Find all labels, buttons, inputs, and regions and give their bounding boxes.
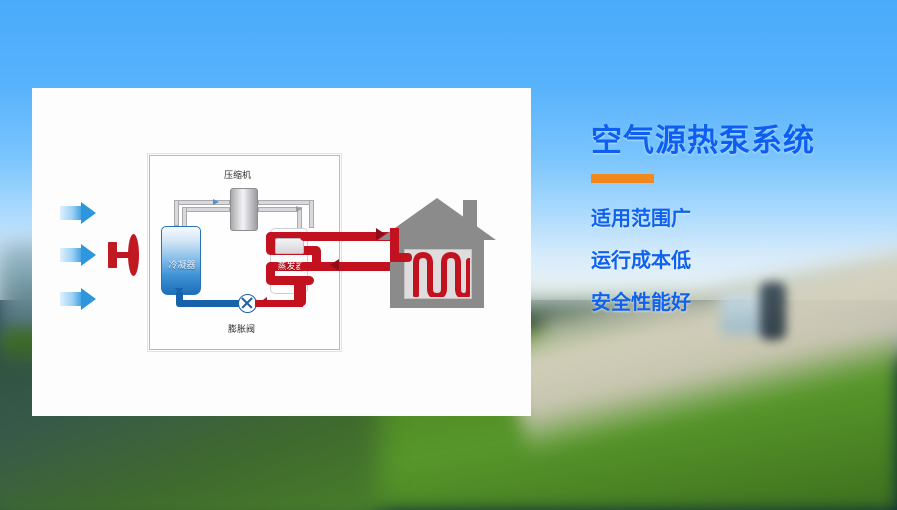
vapor-pipe-segment bbox=[174, 200, 179, 226]
list-item: 适用范围广 bbox=[591, 208, 891, 228]
slide-canvas: 压缩机 膨胀阀 冷凝器 bbox=[0, 0, 897, 510]
vapor-pipe-segment bbox=[174, 200, 230, 205]
hot-flow-arrow-icon bbox=[260, 297, 267, 307]
evaporator-plate bbox=[275, 238, 304, 254]
floor-coil-svg bbox=[406, 251, 470, 297]
evaporator-coil bbox=[266, 276, 314, 285]
compressor-unit bbox=[230, 188, 258, 231]
vapor-pipe-segment bbox=[258, 200, 314, 205]
hot-return-arrow-icon bbox=[330, 259, 339, 271]
bullet-list: 适用范围广 运行成本低 安全性能好 bbox=[591, 208, 891, 312]
list-item: 运行成本低 bbox=[591, 250, 891, 270]
flow-arrow-icon bbox=[213, 199, 219, 205]
accent-bar bbox=[591, 174, 654, 183]
airflow-group bbox=[60, 196, 150, 316]
coil-inlet-branch bbox=[390, 253, 412, 262]
airflow-arrow-icon bbox=[60, 288, 96, 310]
expansion-valve-label: 膨胀阀 bbox=[228, 326, 255, 335]
page-title: 空气源热泵系统 bbox=[591, 124, 891, 158]
airflow-arrow-icon bbox=[60, 244, 96, 266]
floor-heating-coil bbox=[406, 251, 470, 297]
flow-arrow-icon bbox=[296, 206, 302, 212]
liquid-line-segment bbox=[176, 300, 242, 307]
evaporator-outlet bbox=[294, 284, 306, 306]
liquid-flow-arrow-icon bbox=[175, 288, 183, 295]
airflow-arrow-icon bbox=[60, 202, 96, 224]
vapor-pipe-segment bbox=[182, 207, 230, 212]
diagram-card: 压缩机 膨胀阀 冷凝器 bbox=[32, 88, 531, 416]
condenser-label: 冷凝器 bbox=[164, 258, 200, 271]
text-panel: 空气源热泵系统 适用范围广 运行成本低 安全性能好 bbox=[591, 124, 891, 334]
compressor-label: 压缩机 bbox=[224, 172, 251, 181]
fan-icon bbox=[108, 234, 140, 276]
list-item: 安全性能好 bbox=[591, 292, 891, 312]
vapor-pipe-segment bbox=[309, 200, 314, 228]
house-graphic bbox=[378, 198, 496, 308]
